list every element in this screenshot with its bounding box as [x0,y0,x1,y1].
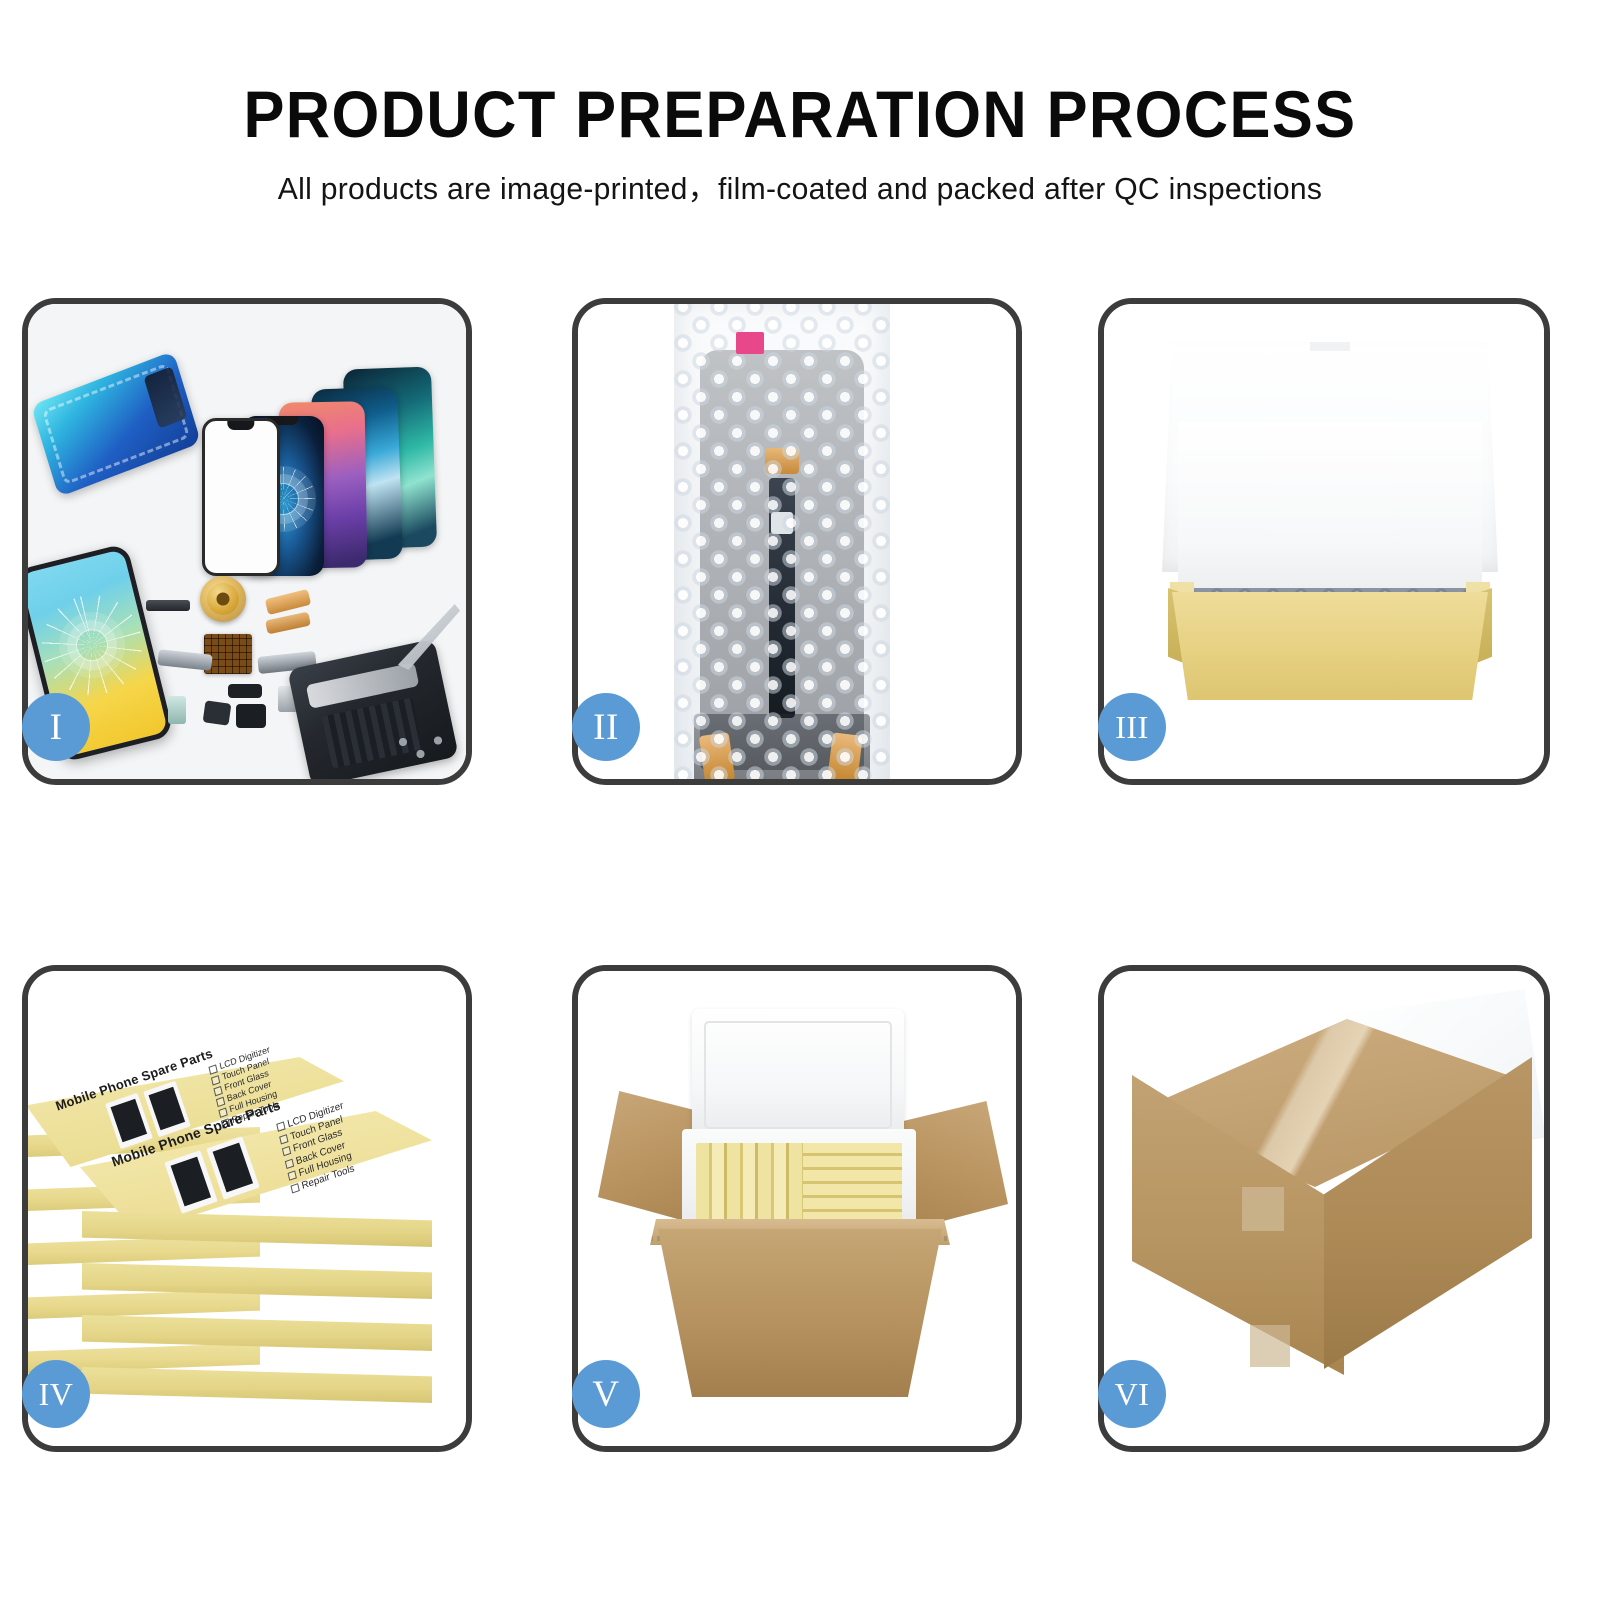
step-4-image: Mobile Phone Spare Parts LCD Digitizer T… [28,971,466,1446]
checkbox-icon [282,1146,291,1156]
front-box-4 [82,1367,432,1403]
step-2-image [578,304,1016,779]
retail-box-stack: Mobile Phone Spare Parts LCD Digitizer T… [28,1015,466,1415]
carton-with-foam-insert [596,1005,1010,1417]
carton-outer-body [658,1229,942,1397]
bubble-wrap-bag [674,304,890,779]
open-mailer-box [1160,342,1500,734]
step-badge-4: IV [22,1360,90,1428]
stacked-boxes-scene: Mobile Phone Spare Parts LCD Digitizer T… [28,971,466,1446]
glass-notch-icon [227,421,254,430]
spare-parts-collage-scene [28,304,466,779]
step-6-image [1104,971,1544,1446]
step-1-image [28,304,466,779]
checkbox-icon [279,1134,288,1144]
checkbox-icon [288,1171,297,1181]
step-badge-6: VI [1098,1360,1166,1428]
foam-cooler-scene [578,971,1016,1446]
speaker-part [146,600,190,611]
mailer-box-scene [1104,304,1544,779]
small-component-c [236,704,266,728]
step-badge-5: V [572,1360,640,1428]
sealed-carton-scene [1104,971,1544,1446]
wireless-charging-coil-part [200,576,246,622]
phone-display-fan [168,380,466,580]
product-preparation-infographic: PRODUCT PREPARATION PROCESS All products… [0,0,1600,1600]
foam-cooler-lid [692,1009,904,1141]
flex-cable-part-a [265,589,312,615]
process-step-panel-4[interactable]: Mobile Phone Spare Parts LCD Digitizer T… [22,965,472,1452]
bubble-wrap-scene [578,304,1016,779]
mailer-inner-liner [1178,422,1482,592]
checkbox-icon [285,1158,294,1168]
pink-qc-sticker [736,332,764,354]
process-step-panel-2[interactable]: II [572,298,1022,785]
rear-box-4 [28,1289,260,1319]
carton-tab-lower [1250,1325,1290,1367]
mailer-front-wall [1172,592,1488,700]
cracked-screen-icon [32,585,153,706]
bubble-texture-icon [674,304,890,779]
process-step-panel-3[interactable]: III [1098,298,1550,785]
process-step-panel-1[interactable]: I [22,298,472,785]
chip-array-part [204,634,252,674]
sim-tray-part [168,696,186,724]
small-component-a [228,684,262,698]
process-step-grid: I II [0,0,1600,1600]
process-step-panel-6[interactable]: VI [1098,965,1550,1452]
step-3-image [1104,304,1544,779]
step-badge-1: I [22,693,90,761]
checkbox-icon [276,1122,285,1132]
screws-part [398,733,448,763]
step-5-image [578,971,1016,1446]
flex-cable-part-b [265,612,311,635]
step-badge-3: III [1098,693,1166,761]
process-step-panel-5[interactable]: V [572,965,1022,1452]
front-glass-panel [202,418,280,576]
yellow-boxes-in-foam [696,1143,902,1223]
carton-tab-upper [1242,1187,1284,1231]
front-box-3 [82,1315,432,1351]
sealed-shipping-carton [1126,1019,1534,1395]
small-component-b [203,700,232,725]
checkbox-icon [290,1183,299,1193]
step-badge-2: II [572,693,640,761]
